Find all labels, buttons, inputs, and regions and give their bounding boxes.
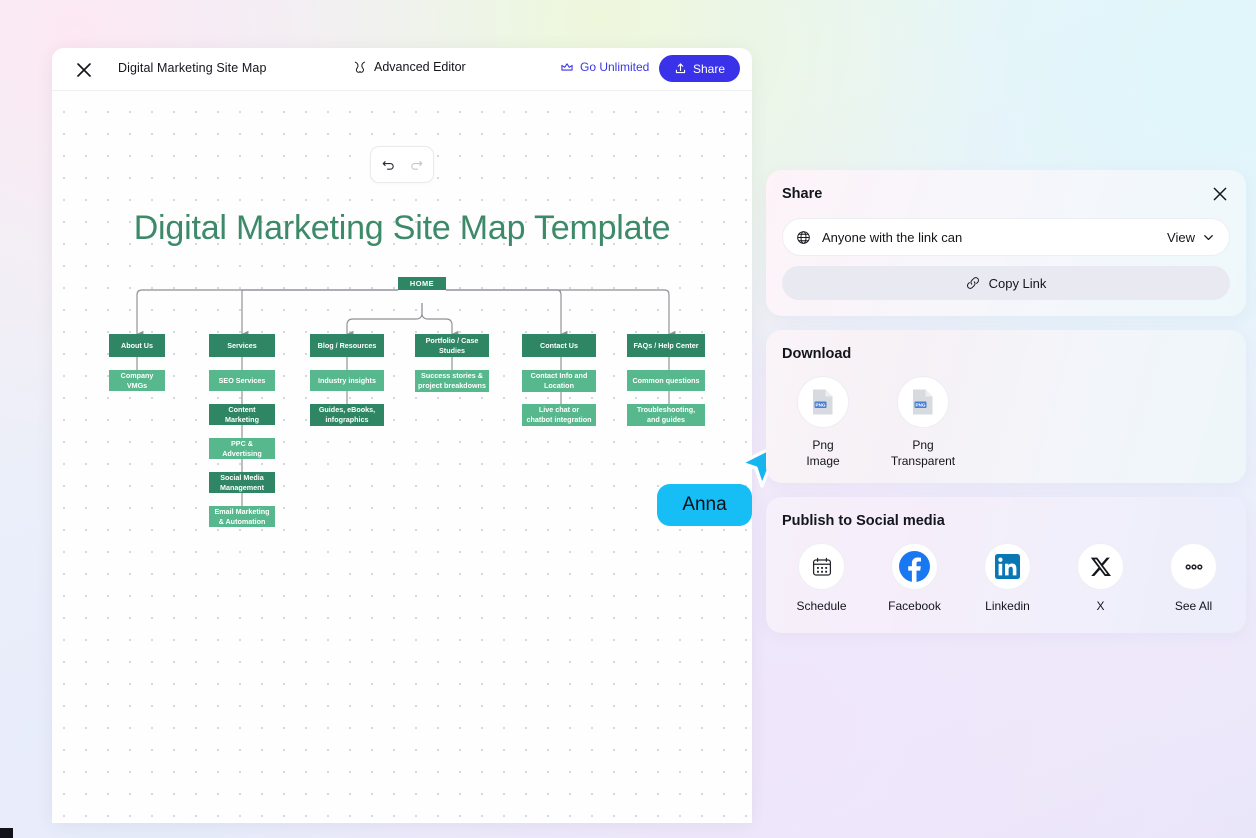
sitemap-node-root[interactable]: HOME (398, 277, 446, 290)
png-file-icon-wrap: PNG (897, 376, 949, 428)
publish-see-all-label: See All (1175, 599, 1212, 613)
sitemap-node-portfolio-case-studies[interactable]: Portfolio / Case Studies (415, 334, 489, 357)
editor-canvas[interactable]: Digital Marketing Site Map Template (52, 91, 752, 822)
copy-link-button[interactable]: Copy Link (782, 266, 1230, 300)
x-icon (1090, 556, 1112, 578)
scroll-indicator[interactable] (0, 828, 13, 838)
close-document-button[interactable] (72, 58, 96, 82)
png-file-icon: PNG (810, 388, 836, 416)
publish-linkedin-label: Linkedin (985, 599, 1030, 613)
png-file-icon: PNG (910, 388, 936, 416)
sitemap-node-email-marketing-automation[interactable]: Email Marketing & Automation (209, 506, 275, 527)
download-card: Download PNG Png Image (766, 330, 1246, 483)
publish-schedule-button[interactable]: Schedule (791, 543, 852, 613)
share-button-label: Share (693, 62, 725, 76)
download-png-transparent-button[interactable]: PNG Png Transparent (892, 376, 954, 469)
x-icon-wrap (1077, 543, 1124, 590)
png-transparent-label-line2: Transparent (891, 454, 955, 468)
advanced-editor-icon (353, 60, 367, 74)
share-panel: Share Anyone with the link can View (766, 170, 1246, 647)
share-link-card: Share Anyone with the link can View (766, 170, 1246, 316)
svg-text:PNG: PNG (916, 402, 926, 407)
document-title: Digital Marketing Site Map (118, 61, 267, 75)
close-share-panel-button[interactable] (1210, 184, 1230, 204)
sitemap-node-social-media-management[interactable]: Social Media Management (209, 472, 275, 493)
publish-facebook-button[interactable]: Facebook (884, 543, 945, 613)
sitemap-node-troubleshooting-guides[interactable]: Troubleshooting, and guides (627, 404, 705, 426)
link-scope-selector[interactable]: Anyone with the link can View (782, 218, 1230, 256)
close-icon (76, 62, 92, 78)
download-png-transparent-label: Png Transparent (891, 437, 955, 469)
sitemap-node-contact-us[interactable]: Contact Us (522, 334, 596, 357)
advanced-editor-button[interactable]: Advanced Editor (353, 60, 466, 74)
png-image-label-line2: Image (806, 454, 839, 468)
facebook-icon (899, 551, 930, 582)
sitemap-node-common-questions[interactable]: Common questions (627, 370, 705, 391)
sitemap-node-contact-info-location[interactable]: Contact Info and Location (522, 370, 596, 392)
linkedin-icon (995, 554, 1020, 579)
app-window: Digital Marketing Site Map Advanced Edit… (52, 48, 752, 823)
sitemap-node-company-vmgs[interactable]: Company VMGs (109, 370, 165, 391)
social-section-title: Publish to Social media (782, 513, 1230, 529)
collaborator-name: Anna (682, 494, 726, 516)
share-button[interactable]: Share (659, 55, 740, 82)
png-image-label-line1: Png (812, 438, 833, 452)
publish-facebook-label: Facebook (888, 599, 941, 613)
chevron-down-icon (1202, 231, 1215, 244)
publish-see-all-button[interactable]: See All (1163, 543, 1224, 613)
go-unlimited-button[interactable]: Go Unlimited (560, 60, 649, 74)
sitemap-node-ppc-advertising[interactable]: PPC & Advertising (209, 438, 275, 459)
see-all-icon-wrap (1170, 543, 1217, 590)
sitemap-connectors (52, 91, 752, 571)
social-options: Schedule Facebook (782, 543, 1230, 613)
linkedin-icon-wrap (984, 543, 1031, 590)
download-options: PNG Png Image PNG (782, 376, 1230, 469)
publish-schedule-label: Schedule (796, 599, 846, 613)
sitemap-node-guides-ebooks-infographics[interactable]: Guides, eBooks, infographics (310, 404, 384, 426)
share-card-header: Share (782, 184, 1230, 204)
png-file-icon-wrap: PNG (797, 376, 849, 428)
download-section-title: Download (782, 346, 1230, 362)
crown-icon (560, 60, 574, 74)
advanced-editor-label: Advanced Editor (374, 60, 466, 74)
share-panel-title: Share (782, 186, 822, 202)
calendar-icon (811, 556, 833, 578)
go-unlimited-label: Go Unlimited (580, 60, 649, 74)
sitemap-node-services[interactable]: Services (209, 334, 275, 357)
sitemap-node-success-stories[interactable]: Success stories & project breakdowns (415, 370, 489, 392)
sitemap-node-blog-resources[interactable]: Blog / Resources (310, 334, 384, 357)
link-permission-value: View (1167, 230, 1195, 245)
link-icon (966, 276, 980, 290)
download-png-image-button[interactable]: PNG Png Image (792, 376, 854, 469)
sitemap-node-faqs-help-center[interactable]: FAQs / Help Center (627, 334, 705, 357)
svg-text:PNG: PNG (816, 402, 826, 407)
sitemap-node-about-us[interactable]: About Us (109, 334, 165, 357)
png-transparent-label-line1: Png (912, 438, 933, 452)
download-png-image-label: Png Image (806, 437, 839, 469)
sitemap-node-content-marketing[interactable]: Content Marketing (209, 404, 275, 425)
close-icon (1212, 186, 1228, 202)
social-publish-card: Publish to Social media (766, 497, 1246, 633)
sitemap-node-live-chat-chatbot[interactable]: Live chat or chatbot integration (522, 404, 596, 426)
sitemap-node-industry-insights[interactable]: Industry insights (310, 370, 384, 391)
sitemap-node-seo-services[interactable]: SEO Services (209, 370, 275, 391)
publish-x-button[interactable]: X (1070, 543, 1131, 613)
upload-icon (674, 62, 687, 75)
facebook-icon-wrap (891, 543, 938, 590)
top-toolbar: Digital Marketing Site Map Advanced Edit… (52, 48, 752, 91)
copy-link-label: Copy Link (989, 276, 1047, 291)
sitemap-diagram: HOME About Us Company VMGs Services SEO … (52, 91, 752, 822)
publish-x-label: X (1096, 599, 1104, 613)
more-dots-icon (1182, 555, 1206, 579)
link-scope-label: Anyone with the link can (822, 230, 1167, 245)
globe-icon (796, 230, 811, 245)
publish-linkedin-button[interactable]: Linkedin (977, 543, 1038, 613)
schedule-icon-wrap (798, 543, 845, 590)
